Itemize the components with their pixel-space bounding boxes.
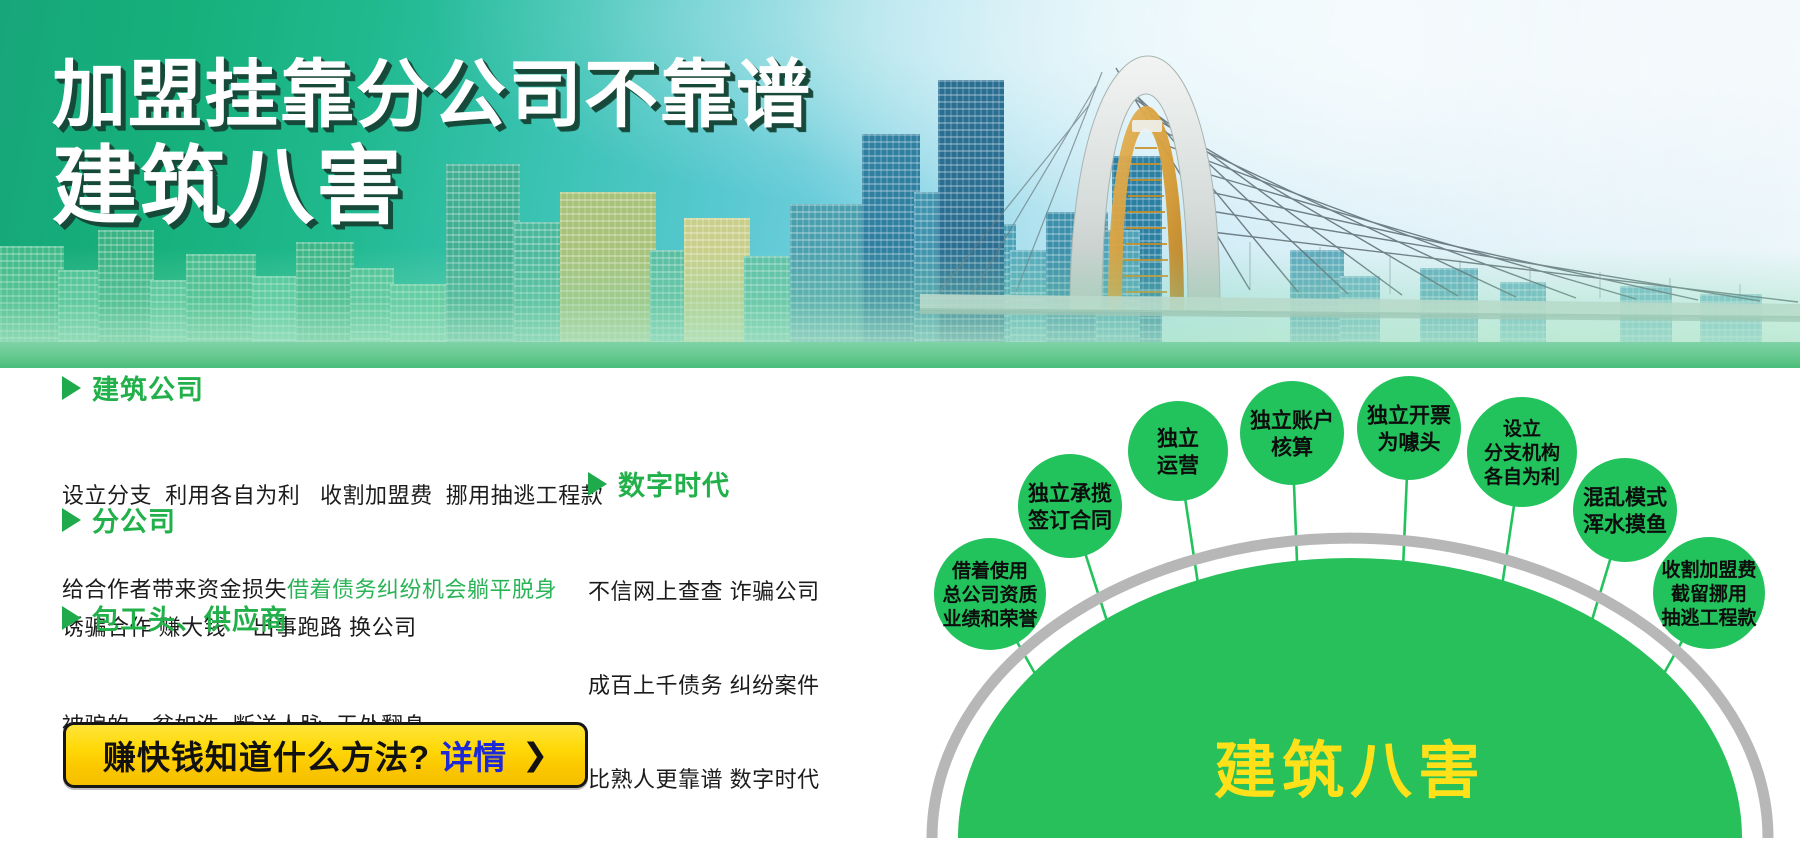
bubble-label-line: 独立开票 [1367, 404, 1451, 428]
triangle-bullet-icon [62, 376, 81, 400]
bubble-label-line: 运营 [1157, 454, 1199, 478]
bubble-independent-account[interactable]: 独立账户核算 [1240, 381, 1344, 485]
cta-button[interactable]: 赚快钱知道什么方法? 详情 ❯ [63, 722, 588, 788]
section-body-line-2: 成百上千债务 纠纷案件 [588, 670, 820, 701]
bubble-label-line: 独立账户 [1250, 409, 1334, 433]
bubble-circle [1357, 376, 1461, 480]
bubble-label-line: 业绩和荣誉 [942, 607, 1038, 630]
hero-title-line-1: 加盟挂靠分公司不靠谱 [52, 56, 812, 134]
bubble-label-line: 分支机构 [1484, 441, 1560, 464]
bubble-circle [1573, 458, 1677, 562]
bubble-branch-self-interest[interactable]: 设立分支机构各自为利 [1467, 397, 1577, 507]
bubble-label-line: 设立 [1503, 417, 1541, 440]
bubble-circle [1018, 454, 1122, 558]
dome-label: 建筑八害 [1214, 737, 1486, 806]
section-body-line-3: 比熟人更靠谱 数字时代 [588, 764, 820, 795]
triangle-bullet-icon [62, 606, 81, 630]
triangle-bullet-icon [588, 472, 607, 496]
cta-detail-link[interactable]: 详情 [440, 731, 506, 779]
triangle-bullet-icon [62, 508, 81, 532]
bubble-diagram-svg: 建筑八害 借着使用总公司资质业绩和荣誉独立承揽签订合同独立运营独立账户核算独立开… [880, 368, 1800, 844]
left-text-panel: 建筑公司 设立分支 利用各自为利 收割加盟费 挪用抽逃工程款 给合作者带来资金损… [0, 368, 880, 844]
section-header: 包工头、供应商 [62, 598, 426, 637]
poster-root: 加盟挂靠分公司不靠谱 建筑八害 建筑公司 设立分支 利用各自为利 收割加盟费 挪… [0, 0, 1800, 844]
bubble-label-line: 核算 [1271, 436, 1313, 460]
cta-button-label: 赚快钱知道什么方法? [103, 731, 430, 779]
hero-baseline [0, 342, 1800, 368]
chevron-right-icon: ❯ [522, 737, 548, 773]
bubble-circle [1128, 401, 1228, 501]
section-digital-era: 数字时代 不信网上查查 诈骗公司 成百上千债务 纠纷案件 比熟人更靠谱 数字时代 [588, 464, 820, 844]
bubble-franchise-fee-misuse[interactable]: 收割加盟费截留挪用抽逃工程款 [1653, 537, 1765, 649]
hero-title: 加盟挂靠分公司不靠谱 建筑八害 [52, 56, 812, 234]
bubble-label-line: 独立 [1157, 427, 1199, 451]
section-header: 分公司 [62, 500, 417, 539]
bubble-use-parent-credentials[interactable]: 借着使用总公司资质业绩和荣誉 [934, 538, 1046, 650]
bubble-label-line: 抽逃工程款 [1661, 606, 1757, 629]
bubble-label-line: 为噱头 [1378, 432, 1441, 455]
section-title: 包工头、供应商 [92, 598, 288, 637]
bubble-label-line: 截留挪用 [1671, 582, 1747, 605]
bubble-label-line: 浑水摸鱼 [1583, 513, 1667, 537]
bubble-label-line: 总公司资质 [942, 583, 1037, 606]
bubble-circle [1240, 381, 1344, 485]
section-title: 分公司 [92, 500, 176, 539]
section-title: 建筑公司 [92, 368, 204, 407]
bubble-label-line: 借着使用 [951, 559, 1028, 582]
bubble-label-line: 收割加盟费 [1661, 558, 1756, 581]
bubble-label-line: 混乱模式 [1583, 486, 1667, 510]
bubble-invoice-gimmick[interactable]: 独立开票为噱头 [1357, 376, 1461, 480]
bubble-independent-contract[interactable]: 独立承揽签订合同 [1018, 454, 1122, 558]
hero-title-line-2: 建筑八害 [52, 142, 812, 233]
section-header: 数字时代 [588, 464, 820, 503]
bubble-diagram: 建筑八害 借着使用总公司资质业绩和荣誉独立承揽签订合同独立运营独立账户核算独立开… [880, 368, 1800, 844]
section-title: 数字时代 [618, 464, 730, 503]
section-body-line-1: 不信网上查查 诈骗公司 [588, 576, 820, 607]
bubble-independent-operation[interactable]: 独立运营 [1128, 401, 1228, 501]
bubble-label-line: 签订合同 [1027, 509, 1112, 533]
section-body: 不信网上查查 诈骗公司 成百上千债务 纠纷案件 比熟人更靠谱 数字时代 [588, 514, 820, 844]
content-area: 建筑公司 设立分支 利用各自为利 收割加盟费 挪用抽逃工程款 给合作者带来资金损… [0, 368, 1800, 844]
section-header: 建筑公司 [62, 368, 603, 407]
hero-banner: 加盟挂靠分公司不靠谱 建筑八害 [0, 0, 1800, 368]
bubble-chaos-fishing[interactable]: 混乱模式浑水摸鱼 [1573, 458, 1677, 562]
bubble-label-line: 独立承揽 [1028, 482, 1112, 506]
bubble-label-line: 各自为利 [1483, 465, 1560, 488]
